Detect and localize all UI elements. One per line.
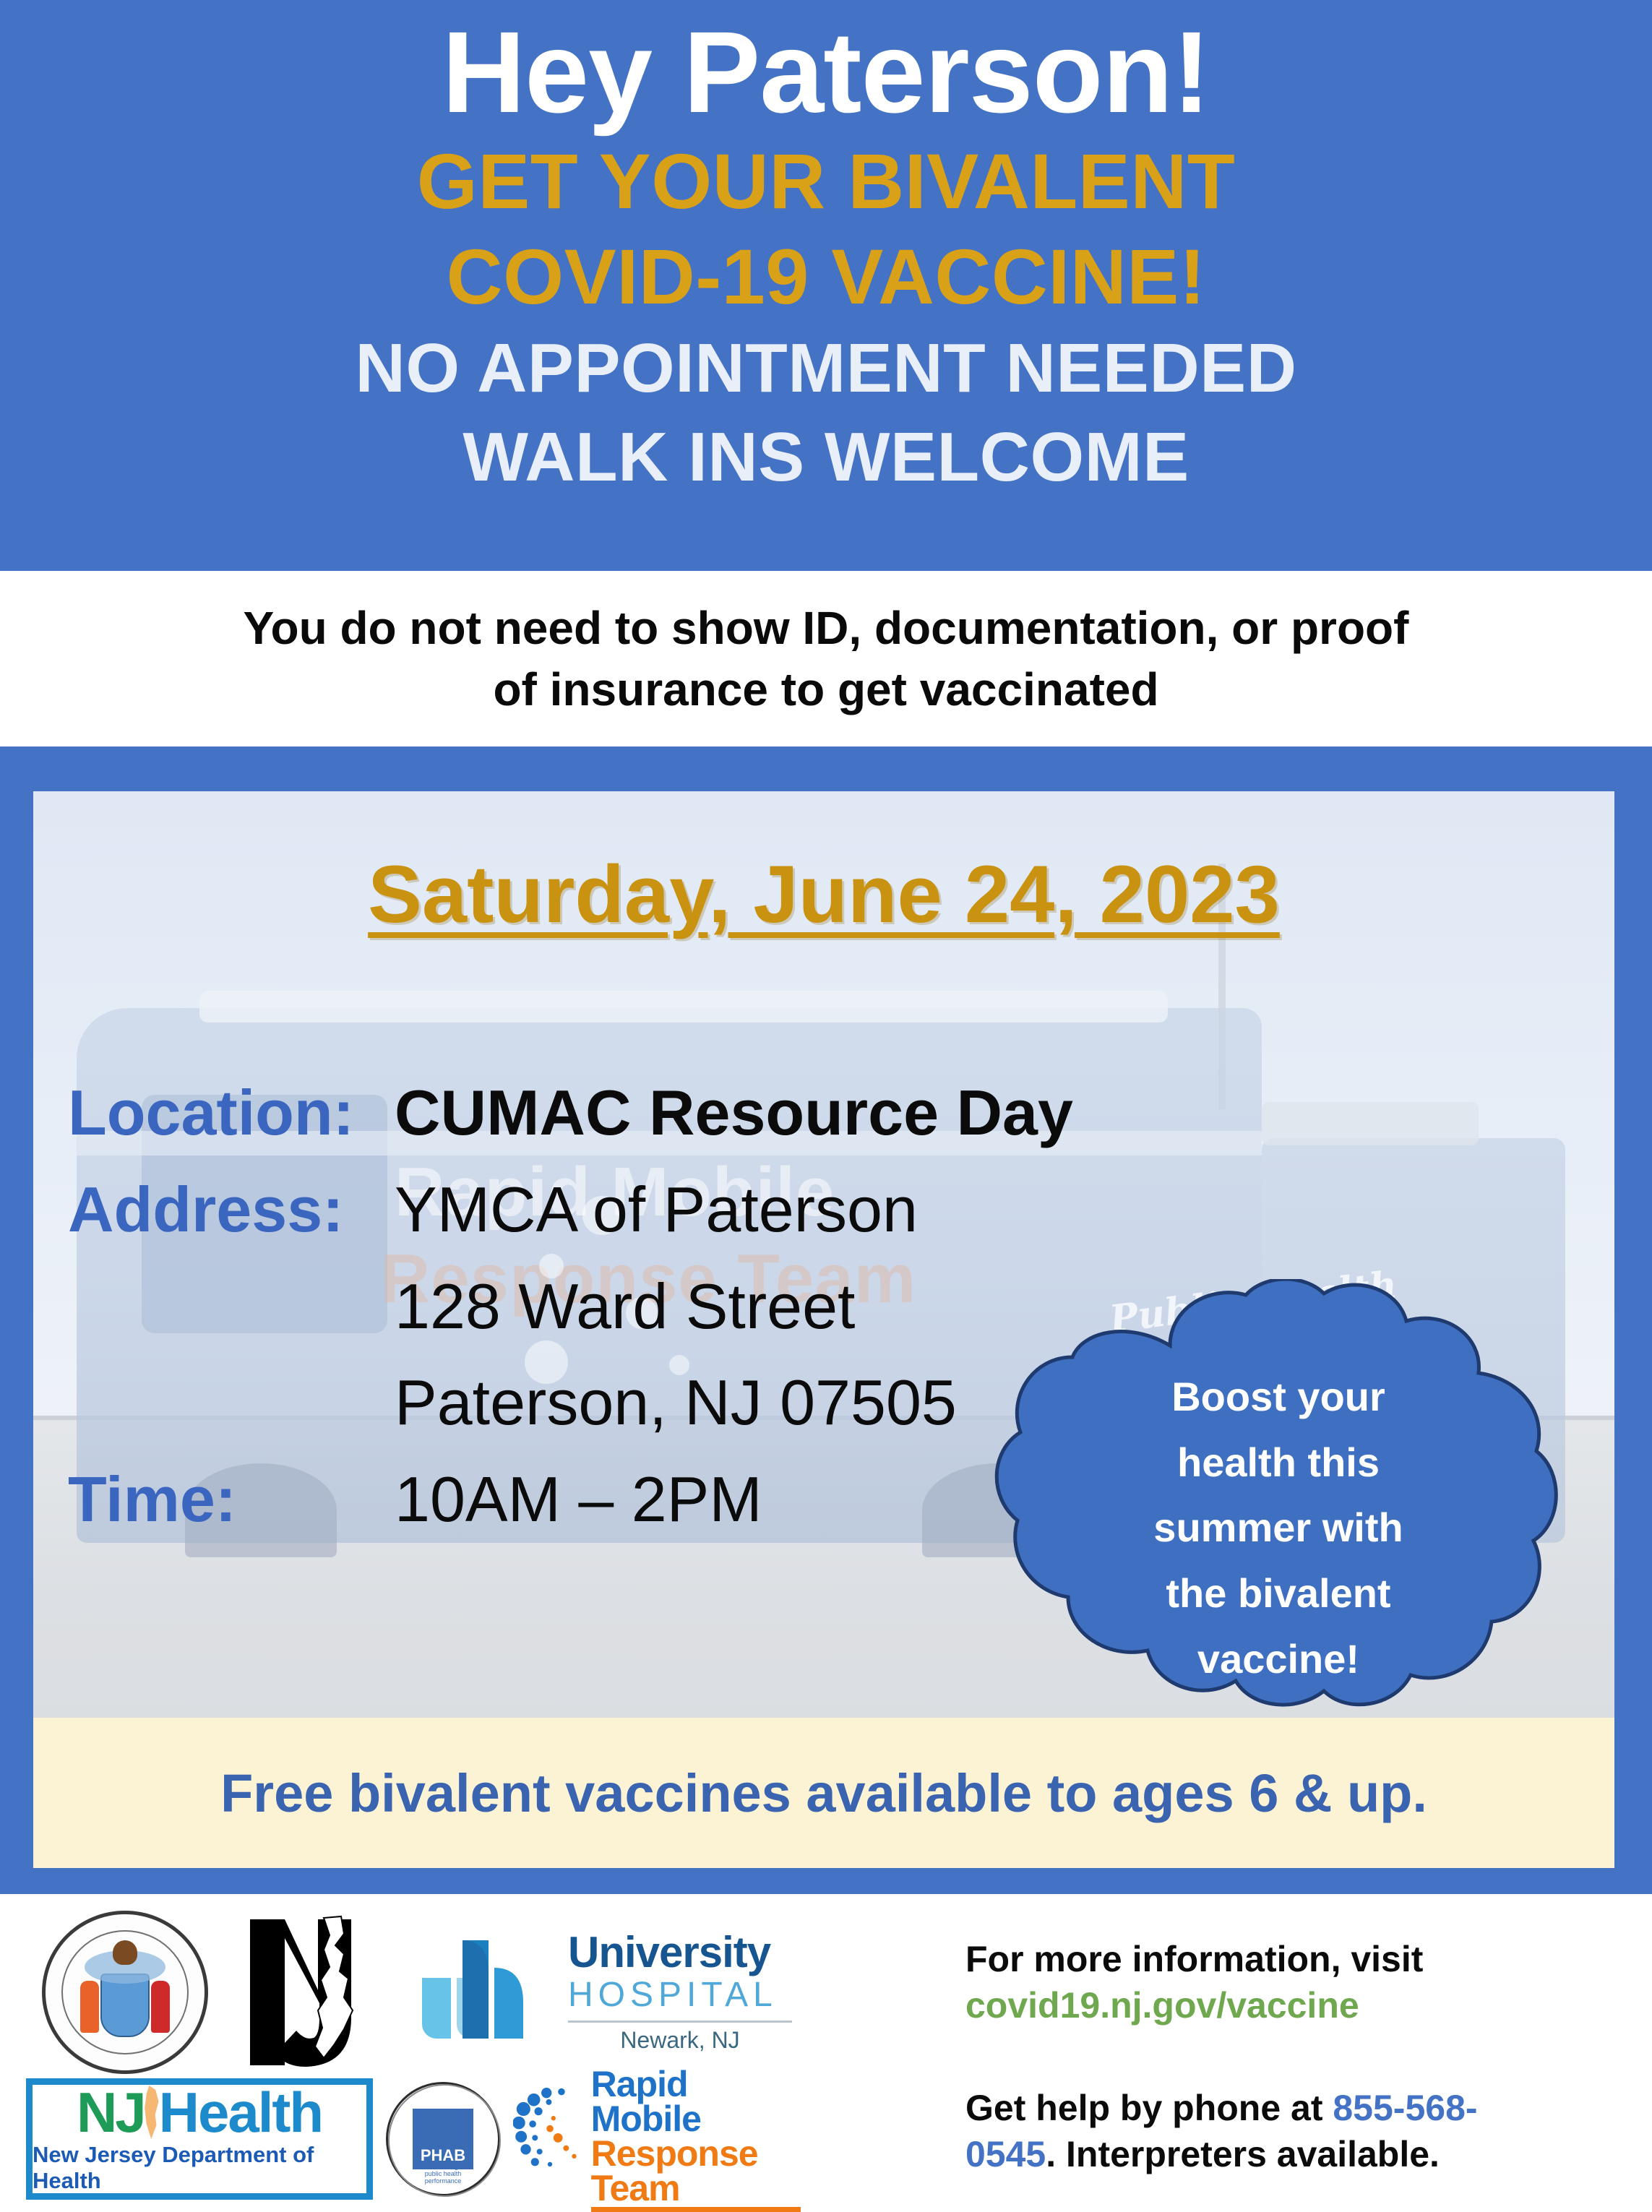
uh-divider (568, 2021, 792, 2023)
free-vaccine-text: Free bivalent vaccines available to ages… (220, 1763, 1427, 1824)
nj-health-health: Health (159, 2084, 322, 2140)
address-value-3: Paterson, NJ 07505 (395, 1354, 1073, 1451)
rmrt-line-1: Rapid Mobile (591, 2067, 802, 2136)
cloud-line-3: summer with (993, 1495, 1564, 1561)
van-roof-unit (1262, 1102, 1479, 1145)
free-vaccine-band: Free bivalent vaccines available to ages… (33, 1718, 1614, 1868)
seal-figure-right (151, 1981, 170, 2033)
rmrt-underline (591, 2207, 801, 2212)
phone-help-prefix: Get help by phone at (965, 2088, 1333, 2128)
logo-row-bottom: NJ Health New Jersey Department of Healt… (26, 2078, 937, 2200)
rmrt-line-2: Response Team (591, 2136, 802, 2205)
nj-monogram-icon (243, 1909, 384, 2075)
university-hospital-logo: University HOSPITAL Newark, NJ (419, 1931, 792, 2054)
nj-health-subtitle: New Jersey Department of Health (33, 2142, 366, 2194)
university-hospital-mark-icon (419, 1936, 549, 2049)
note-line-2: of insurance to get vaccinated (493, 659, 1158, 720)
no-id-required-note: You do not need to show ID, documentatio… (0, 571, 1652, 746)
phone-number-part-1[interactable]: 855-568- (1333, 2088, 1477, 2128)
logo-row-top: University HOSPITAL Newark, NJ (26, 1907, 937, 2078)
address-value-1: YMCA of Paterson (395, 1161, 1073, 1258)
phone-help-block: Get help by phone at 855-568- 0545. Inte… (965, 2085, 1623, 2177)
phone-help-line-2: 0545. Interpreters available. (965, 2131, 1623, 2177)
hero-white-line-1: NO APPOINTMENT NEEDED (0, 324, 1652, 413)
cloud-line-4: the bivalent (993, 1561, 1564, 1627)
event-details-section: Rapid Mobile Response Team Public Health… (0, 746, 1652, 1894)
cloud-line-2: health this (993, 1430, 1564, 1496)
phone-help-suffix: . Interpreters available. (1046, 2134, 1440, 2174)
cloud-callout-text: Boost your health this summer with the b… (993, 1364, 1564, 1692)
location-label: Location: (68, 1064, 379, 1161)
nj-state-seal-icon (42, 1911, 208, 2074)
time-label: Time: (68, 1451, 379, 1548)
address-label: Address: (68, 1161, 379, 1258)
nj-state-seal-inner (61, 1930, 189, 2054)
nj-health-logo: NJ Health New Jersey Department of Healt… (26, 2078, 373, 2200)
uh-line-3: Newark, NJ (568, 2027, 792, 2054)
nj-health-nj: NJ (77, 2084, 145, 2140)
phone-number-part-2[interactable]: 0545 (965, 2134, 1046, 2174)
vaccine-url-link[interactable]: covid19.nj.gov/vaccine (965, 1982, 1623, 2028)
seal-horse-head-icon (113, 1940, 137, 1965)
footer: University HOSPITAL Newark, NJ NJ Health… (0, 1894, 1652, 2203)
uh-line-2: HOSPITAL (568, 1974, 792, 2016)
uh-line-1: University (568, 1931, 792, 1974)
university-hospital-wordmark: University HOSPITAL Newark, NJ (568, 1931, 792, 2054)
note-line-1: You do not need to show ID, documentatio… (244, 598, 1409, 658)
location-value: CUMAC Resource Day (395, 1064, 1073, 1161)
phab-sub-3: performance (388, 2178, 498, 2185)
hero-title: Hey Paterson! (0, 13, 1652, 134)
event-photo-card: Rapid Mobile Response Team Public Health… (33, 791, 1614, 1868)
rapid-mobile-wordmark: Rapid Mobile Response Team (591, 2067, 802, 2212)
hero-white-line-2: WALK INS WELCOME (0, 413, 1652, 502)
phab-subtext: Advancing public health performance (388, 2164, 498, 2185)
seal-figure-left (80, 1981, 99, 2033)
event-date: Saturday, June 24, 2023 (33, 848, 1614, 941)
nj-health-wordmark: NJ Health (77, 2084, 322, 2140)
more-info-block: For more information, visit covid19.nj.g… (965, 1936, 1623, 2028)
phone-help-line-1: Get help by phone at 855-568- (965, 2085, 1623, 2131)
time-value: 10AM – 2PM (395, 1451, 1073, 1548)
cloud-callout: Boost your health this summer with the b… (993, 1279, 1564, 1713)
address-value-2: 128 Ward Street (395, 1258, 1073, 1355)
contact-info: For more information, visit covid19.nj.g… (937, 1907, 1623, 2203)
halftone-dots-icon (513, 2085, 588, 2193)
cloud-line-5: vaccine! (993, 1627, 1564, 1692)
phab-accreditation-seal-icon: PHAB Advancing public health performance (386, 2082, 500, 2196)
van-roof (199, 991, 1168, 1023)
hero-banner: Hey Paterson! GET YOUR BIVALENT COVID-19… (0, 0, 1652, 571)
more-info-label: For more information, visit (965, 1936, 1623, 1982)
event-detail-grid: Location: CUMAC Resource Day Address: YM… (68, 1064, 1073, 1548)
partner-logos: University HOSPITAL Newark, NJ NJ Health… (26, 1907, 937, 2203)
hero-gold-line-2: COVID-19 VACCINE! (0, 229, 1652, 324)
nj-health-inner: NJ Health New Jersey Department of Healt… (33, 2085, 366, 2193)
rapid-mobile-response-team-logo: Rapid Mobile Response Team (513, 2078, 802, 2200)
cloud-line-1: Boost your (993, 1364, 1564, 1430)
hero-gold-line-1: GET YOUR BIVALENT (0, 134, 1652, 229)
